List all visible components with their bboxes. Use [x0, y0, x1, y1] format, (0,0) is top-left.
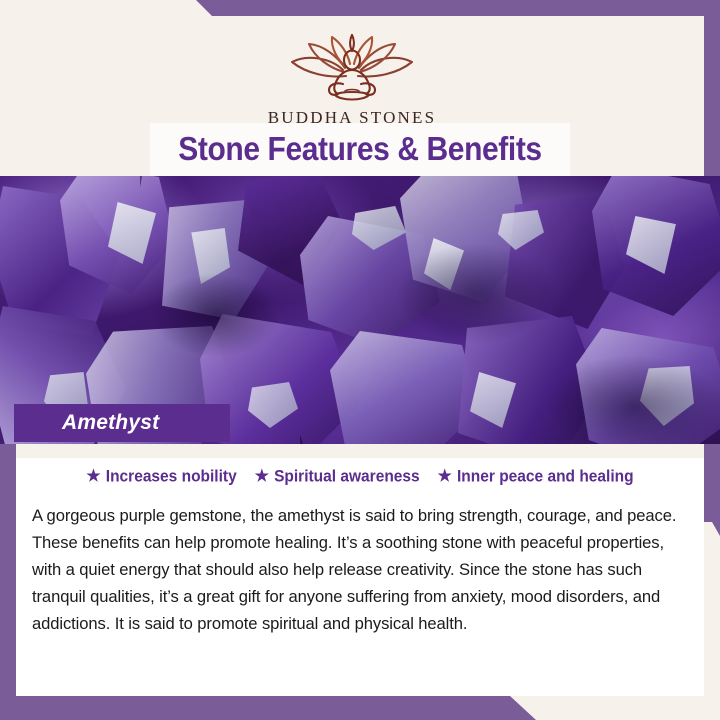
page-title: Stone Features & Benefits	[178, 131, 541, 169]
feature-label: Inner peace and healing	[457, 467, 634, 487]
stone-description: A gorgeous purple gemstone, the amethyst…	[32, 502, 690, 637]
star-icon: ★	[255, 469, 269, 485]
top-purple-band	[0, 0, 720, 16]
stone-name: Amethyst	[62, 411, 159, 435]
star-icon: ★	[438, 469, 452, 485]
feature-item-nobility: ★ Increases nobility	[86, 467, 236, 487]
lotus-meditation-icon	[277, 32, 427, 104]
feature-list: ★ Increases nobility ★ Spiritual awarene…	[16, 468, 704, 486]
content-top-stripe	[16, 444, 704, 458]
feature-label: Spiritual awareness	[274, 467, 420, 487]
feature-item-spiritual-awareness: ★ Spiritual awareness	[255, 467, 420, 487]
infographic-page: BUDDHA STONES Stone Features & Benefits	[0, 0, 720, 720]
feature-label: Increases nobility	[106, 467, 237, 487]
stone-name-tag: Amethyst	[14, 404, 230, 442]
page-title-band: Stone Features & Benefits	[150, 123, 570, 177]
brand-logo: BUDDHA STONES	[268, 32, 437, 128]
feature-item-inner-peace: ★ Inner peace and healing	[438, 467, 634, 487]
content-card: ★ Increases nobility ★ Spiritual awarene…	[16, 444, 704, 696]
star-icon: ★	[86, 469, 100, 485]
bottom-purple-band	[0, 696, 720, 720]
